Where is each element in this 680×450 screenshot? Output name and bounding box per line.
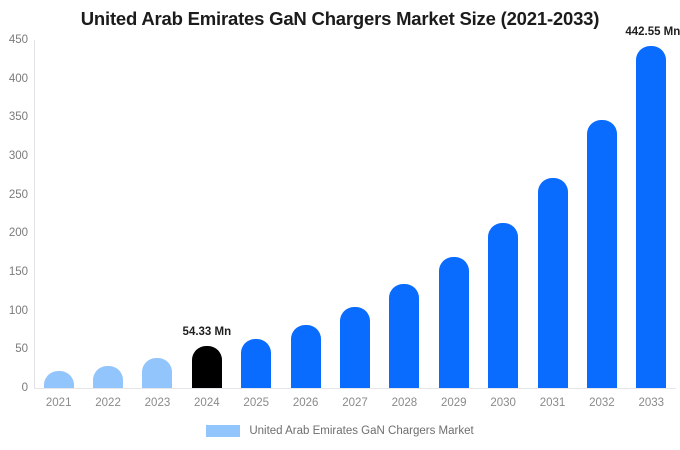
bar-slot (340, 40, 370, 388)
y-axis-tick-label: 200 (0, 227, 28, 239)
legend-label[interactable]: United Arab Emirates GaN Chargers Market (249, 425, 473, 437)
x-axis-tick-label: 2026 (281, 397, 330, 409)
bar-slot (44, 40, 74, 388)
y-axis-tick-label: 100 (0, 305, 28, 317)
y-axis-tick-label: 450 (0, 34, 28, 46)
x-axis-tick-label: 2029 (429, 397, 478, 409)
bar-slot (389, 40, 419, 388)
x-axis-tick-label: 2023 (133, 397, 182, 409)
x-axis-tick-label: 2028 (380, 397, 429, 409)
y-axis-labels: 450400350300250200150100500 (0, 40, 28, 388)
y-axis-tick-label: 150 (0, 266, 28, 278)
bar-group: 54.33 Mn442.55 Mn (34, 40, 676, 388)
legend-swatch (206, 425, 240, 437)
y-axis-tick-label: 400 (0, 73, 28, 85)
bar-slot: 442.55 Mn (636, 40, 666, 388)
bar[interactable] (241, 339, 271, 388)
x-axis-tick-label: 2021 (34, 397, 83, 409)
bar[interactable] (192, 346, 222, 388)
bar-slot (241, 40, 271, 388)
y-axis-tick-label: 50 (0, 343, 28, 355)
y-axis-tick-label: 250 (0, 189, 28, 201)
x-axis-line (34, 388, 676, 389)
bar[interactable] (636, 46, 666, 388)
x-axis-tick-label: 2031 (528, 397, 577, 409)
x-axis-labels: 2021202220232024202520262027202820292030… (34, 397, 676, 415)
y-axis-tick-label: 350 (0, 111, 28, 123)
bar[interactable] (291, 325, 321, 388)
x-axis-tick-label: 2027 (330, 397, 379, 409)
x-axis-tick-label: 2024 (182, 397, 231, 409)
x-axis-tick-label: 2025 (232, 397, 281, 409)
chart-title: United Arab Emirates GaN Chargers Market… (0, 8, 680, 30)
bar-slot (142, 40, 172, 388)
bar[interactable] (340, 307, 370, 388)
bar-slot (538, 40, 568, 388)
x-axis-tick-label: 2030 (478, 397, 527, 409)
chart-legend: United Arab Emirates GaN Chargers Market (0, 425, 680, 437)
chart-container: United Arab Emirates GaN Chargers Market… (0, 0, 680, 450)
bar-value-label: 54.33 Mn (183, 326, 232, 338)
bar[interactable] (439, 257, 469, 388)
bar[interactable] (488, 223, 518, 388)
bar[interactable] (44, 371, 74, 388)
bar-slot (439, 40, 469, 388)
bar-slot (93, 40, 123, 388)
x-axis-tick-label: 2032 (577, 397, 626, 409)
bar[interactable] (538, 178, 568, 388)
bar[interactable] (389, 284, 419, 388)
x-axis-tick-label: 2033 (627, 397, 676, 409)
bar-slot (587, 40, 617, 388)
bar-slot (488, 40, 518, 388)
y-axis-tick-label: 300 (0, 150, 28, 162)
bar[interactable] (142, 358, 172, 388)
x-axis-tick-label: 2022 (83, 397, 132, 409)
bar[interactable] (587, 120, 617, 388)
bar[interactable] (93, 366, 123, 388)
bar-value-label: 442.55 Mn (625, 26, 680, 38)
y-axis-tick-label: 0 (0, 382, 28, 394)
bar-slot: 54.33 Mn (192, 40, 222, 388)
bar-slot (291, 40, 321, 388)
